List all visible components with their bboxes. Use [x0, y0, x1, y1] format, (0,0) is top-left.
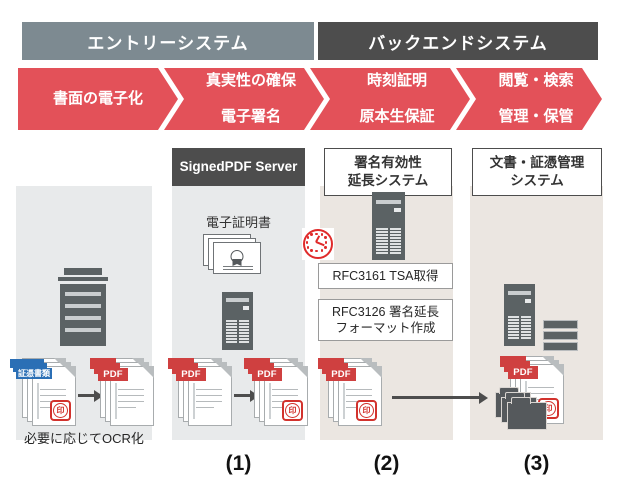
folder-icon-front	[507, 402, 547, 430]
rack-unit-2	[543, 331, 578, 340]
server-icon-extension	[372, 192, 405, 260]
arrow-right-icon-scan	[78, 394, 95, 397]
flow-step-authenticity: 真実性の確保 電子署名	[164, 68, 324, 130]
pdf-badge: PDF	[252, 368, 282, 381]
flow-step-authenticity-line2: 電子署名	[206, 108, 296, 126]
title-document-management-system: 文書・証憑管理 システム	[472, 148, 602, 196]
flow-step-manage-line1: 閲覧・検索	[498, 72, 573, 90]
seal-glyph: 印	[285, 403, 300, 418]
flow-step-timestamp-line2: 原本生保証	[359, 108, 434, 126]
pdf-badge: PDF	[176, 368, 206, 381]
multifunction-printer-icon	[52, 268, 114, 348]
column-number-1: (1)	[172, 452, 305, 476]
system-bar-entry: エントリーシステム	[22, 22, 314, 60]
system-bar-backend-label: バックエンドシステム	[368, 29, 548, 54]
title-document-management-line1: 文書・証憑管理	[490, 155, 585, 170]
ocr-caption-label: 必要に応じてOCR化	[24, 428, 144, 447]
flow-step-digitize: 書面の電子化	[18, 68, 178, 130]
rfc-box-3126: RFC3126 署名延長 フォーマット作成	[318, 299, 453, 341]
rfc-box-3161: RFC3161 TSA取得	[318, 263, 453, 289]
certificate-caption-label: 電子証明書	[206, 215, 271, 230]
arrow-right-icon-archive	[392, 396, 480, 399]
process-flow: 書面の電子化 真実性の確保 電子署名 時刻証明 原本生保証 閲覧・検索 管理・保…	[18, 68, 602, 130]
title-signature-extension-line2: 延長システム	[348, 173, 429, 188]
flow-step-manage: 閲覧・検索 管理・保管	[456, 68, 602, 130]
column-number-3: (3)	[470, 452, 603, 476]
certificate-caption: 電子証明書	[172, 212, 305, 231]
seal-glyph: 印	[359, 403, 374, 418]
system-bar-backend: バックエンドシステム	[318, 22, 598, 60]
flow-step-manage-line2: 管理・保管	[498, 108, 573, 126]
title-document-management-line2: システム	[510, 173, 564, 188]
flow-step-timestamp: 時刻証明 原本生保証	[310, 68, 470, 130]
server-icon-archive	[504, 284, 535, 346]
evidence-badge: 証憑書類	[16, 368, 52, 379]
diagram-canvas: エントリーシステム バックエンドシステム 書面の電子化 真実性の確保 電子署名 …	[0, 0, 620, 500]
seal-glyph: 印	[53, 403, 68, 418]
pdf-badge: PDF	[508, 366, 538, 379]
title-signature-extension-system: 署名有効性 延長システム	[324, 148, 452, 196]
title-signature-extension-line1: 署名有効性	[354, 155, 422, 170]
flow-step-digitize-line1: 書面の電子化	[53, 90, 143, 108]
clock-icon	[302, 228, 334, 260]
pdf-badge: PDF	[326, 368, 356, 381]
rfc-box-3161-label: RFC3161 TSA取得	[332, 268, 438, 284]
column-number-2: (2)	[320, 452, 453, 476]
ocr-caption: 必要に応じてOCR化	[16, 424, 152, 450]
server-icon-signedpdf	[222, 292, 253, 350]
arrow-right-icon-sign	[234, 394, 251, 397]
rfc-box-3126-line2: フォーマット作成	[335, 321, 435, 335]
title-signedpdf-server-label: SignedPDF Server	[180, 158, 298, 176]
system-bar-entry-label: エントリーシステム	[87, 29, 248, 54]
rack-unit-3	[543, 342, 578, 351]
title-signedpdf-server: SignedPDF Server	[172, 148, 305, 186]
rack-unit-1	[543, 320, 578, 329]
pdf-badge: PDF	[98, 368, 128, 381]
flow-step-timestamp-line1: 時刻証明	[359, 72, 434, 90]
flow-step-authenticity-line1: 真実性の確保	[206, 72, 296, 90]
rfc-box-3126-line1: RFC3126 署名延長	[332, 305, 439, 319]
